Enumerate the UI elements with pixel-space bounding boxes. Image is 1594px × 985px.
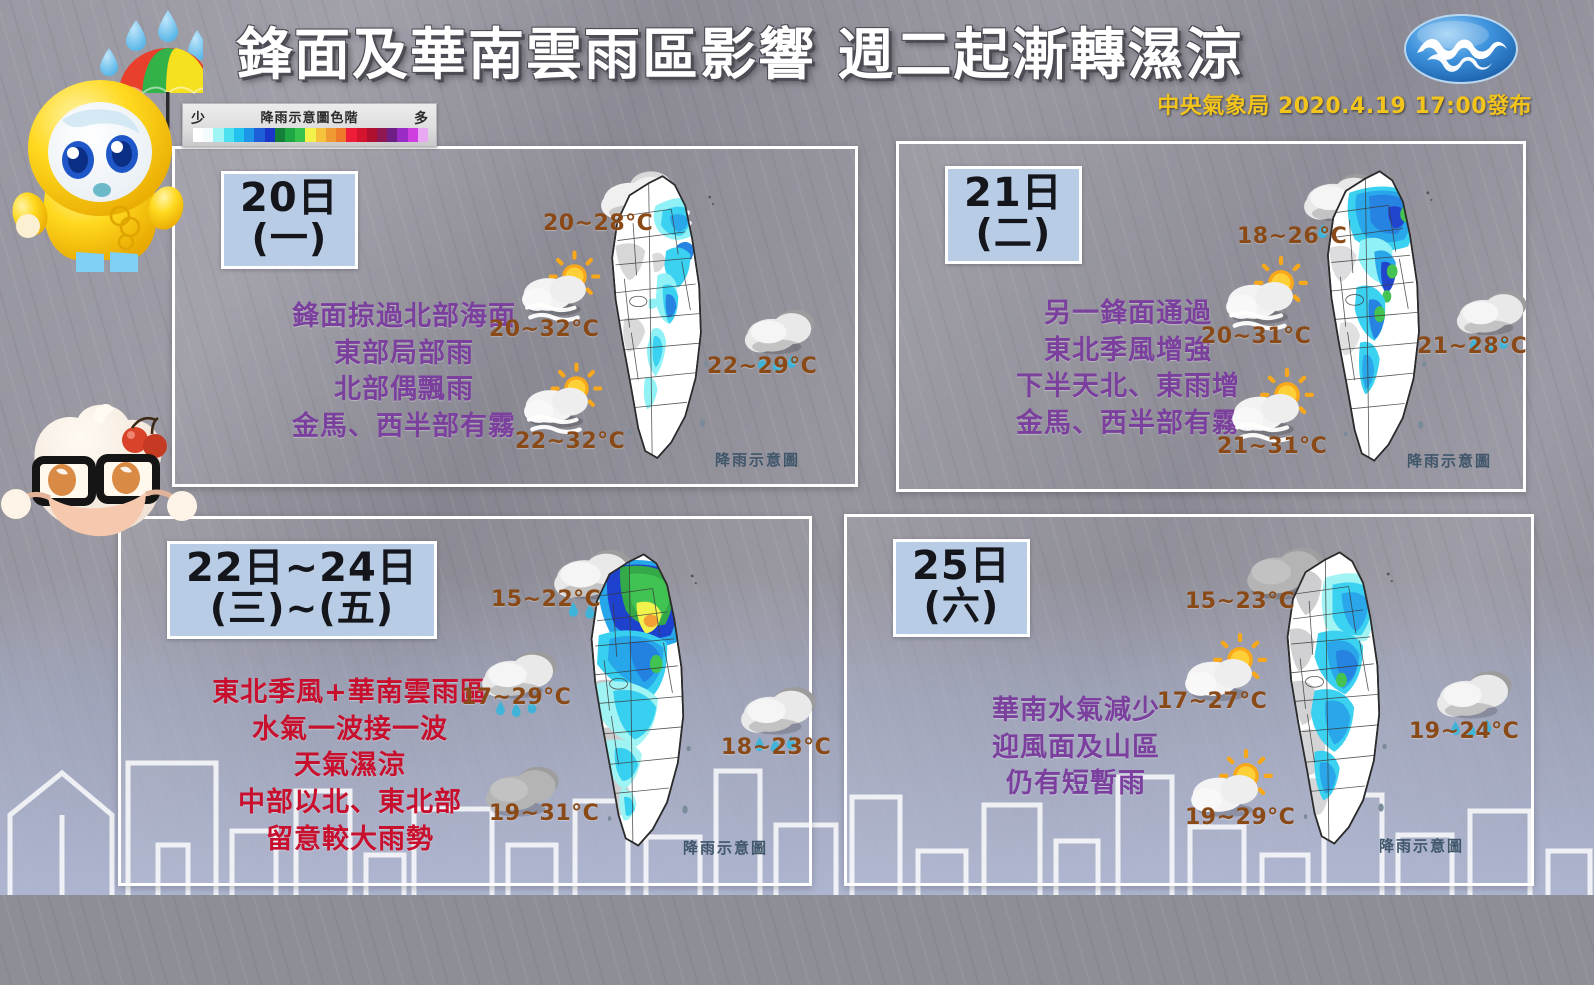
temperature-west-central: 20~32°C <box>489 317 599 342</box>
day-main-label: 25日 <box>912 546 1011 587</box>
temp-unit: °C <box>789 354 817 379</box>
legend-swatch-22 <box>418 128 428 142</box>
temperature-east: 21~28°C <box>1417 334 1527 359</box>
legend-swatch-6 <box>254 128 264 142</box>
temp-value: 17~27 <box>1157 689 1239 714</box>
temp-unit: °C <box>571 317 599 342</box>
temp-value: 18~23 <box>721 735 803 760</box>
temp-value: 18~26 <box>1237 224 1319 249</box>
day-weekday-label: (一) <box>240 219 339 258</box>
temp-unit: °C <box>803 735 831 760</box>
temperature-south: 21~31°C <box>1217 434 1327 459</box>
day-weekday-label: (三)~(五) <box>186 589 418 628</box>
legend-swatch-17 <box>367 128 377 142</box>
day-label-box: 20日 (一) <box>221 171 358 269</box>
issue-timestamp: 中央氣象局 2020.4.19 17:00發布 <box>1157 88 1532 120</box>
temp-unit: °C <box>625 211 653 236</box>
temperature-north: 15~22°C <box>491 587 601 612</box>
temp-value: 22~32 <box>515 429 597 454</box>
temp-unit: °C <box>1499 334 1527 359</box>
temp-value: 20~28 <box>543 211 625 236</box>
temp-unit: °C <box>1283 324 1311 349</box>
temp-unit: °C <box>1267 589 1295 614</box>
day-weekday-label: (六) <box>912 587 1011 626</box>
temp-value: 19~29 <box>1185 805 1267 830</box>
day-label-box: 21日 (二) <box>945 166 1082 264</box>
temperature-north: 20~28°C <box>543 211 653 236</box>
temp-unit: °C <box>571 801 599 826</box>
legend-swatch-13 <box>326 128 336 142</box>
temp-value: 22~29 <box>707 354 789 379</box>
day-main-label: 22日~24日 <box>186 548 418 589</box>
legend-swatch-0 <box>193 128 203 142</box>
legend-swatch-14 <box>336 128 346 142</box>
temp-unit: °C <box>1267 805 1295 830</box>
temperature-north: 18~26°C <box>1237 224 1347 249</box>
legend-swatch-3 <box>224 128 234 142</box>
day-weekday-label: (二) <box>964 214 1063 253</box>
legend-swatch-10 <box>295 128 305 142</box>
legend-swatch-8 <box>275 128 285 142</box>
temperature-south: 19~31°C <box>489 801 599 826</box>
temp-unit: °C <box>573 587 601 612</box>
legend-swatch-1 <box>203 128 213 142</box>
temperature-east: 22~29°C <box>707 354 817 379</box>
map-caption: 降雨示意圖 <box>1379 835 1464 856</box>
temp-unit: °C <box>597 429 625 454</box>
map-caption: 降雨示意圖 <box>1407 450 1492 471</box>
day-label-box: 25日 (六) <box>893 539 1030 637</box>
day-main-label: 20日 <box>240 178 339 219</box>
temperature-west-central: 17~29°C <box>461 685 571 710</box>
legend-color-bar <box>193 128 428 142</box>
temp-value: 20~32 <box>489 317 571 342</box>
temperature-west-central: 20~31°C <box>1201 324 1311 349</box>
temperature-east: 19~24°C <box>1409 719 1519 744</box>
forecast-panel-2[interactable]: 22日~24日 (三)~(五) 東北季風+華南雲雨區水氣一波接一波天氣濕涼中部以… <box>118 516 812 886</box>
legend-swatch-2 <box>213 128 223 142</box>
temp-value: 19~31 <box>489 801 571 826</box>
temp-value: 21~28 <box>1417 334 1499 359</box>
legend-swatch-20 <box>397 128 407 142</box>
temp-unit: °C <box>543 685 571 710</box>
day-main-label: 21日 <box>964 173 1063 214</box>
taiwan-map-container <box>1277 166 1477 474</box>
legend-swatch-16 <box>357 128 367 142</box>
temperature-south: 19~29°C <box>1185 805 1295 830</box>
legend-swatch-19 <box>387 128 397 142</box>
temperature-north: 15~23°C <box>1185 589 1295 614</box>
taiwan-rainfall-map <box>1277 166 1477 474</box>
legend-swatch-18 <box>377 128 387 142</box>
legend-swatch-21 <box>408 128 418 142</box>
temp-value: 17~29 <box>461 685 543 710</box>
temperature-west-central: 17~27°C <box>1157 689 1267 714</box>
legend-swatch-4 <box>234 128 244 142</box>
legend-swatch-12 <box>316 128 326 142</box>
page-title: 鋒面及華南雲雨區影響 週二起漸轉濕涼 <box>236 10 1244 91</box>
temp-value: 19~24 <box>1409 719 1491 744</box>
temp-value: 15~22 <box>491 587 573 612</box>
day-label-box: 22日~24日 (三)~(五) <box>167 541 437 639</box>
legend-swatch-5 <box>244 128 254 142</box>
temperature-south: 22~32°C <box>515 429 625 454</box>
temp-value: 21~31 <box>1217 434 1299 459</box>
legend-swatch-11 <box>305 128 315 142</box>
header: 鋒面及華南雲雨區影響 週二起漸轉濕涼 中央氣象局 2020.4.19 17:00… <box>0 0 1594 130</box>
forecast-panel-1[interactable]: 21日 (二) 另一鋒面通過東北季風增強下半天北、東雨增金馬、西半部有霧 <box>896 141 1526 492</box>
legend-swatch-15 <box>346 128 356 142</box>
legend-swatch-7 <box>265 128 275 142</box>
forecast-panel-0[interactable]: 20日 (一) 鋒面掠過北部海面東部局部雨北部偶飄雨金馬、西半部有霧 <box>172 146 858 487</box>
map-caption: 降雨示意圖 <box>715 449 800 470</box>
fog-mascot <box>0 378 200 568</box>
temp-unit: °C <box>1319 224 1347 249</box>
forecast-panel-3[interactable]: 25日 (六) 華南水氣減少迎風面及山區仍有短暫雨 <box>844 514 1534 886</box>
map-caption: 降雨示意圖 <box>683 837 768 858</box>
cwb-logo-icon <box>1403 13 1519 85</box>
legend-swatch-9 <box>285 128 295 142</box>
temp-value: 20~31 <box>1201 324 1283 349</box>
temp-unit: °C <box>1491 719 1519 744</box>
temperature-east: 18~23°C <box>721 735 831 760</box>
temp-value: 15~23 <box>1185 589 1267 614</box>
temp-unit: °C <box>1239 689 1267 714</box>
temp-unit: °C <box>1299 434 1327 459</box>
